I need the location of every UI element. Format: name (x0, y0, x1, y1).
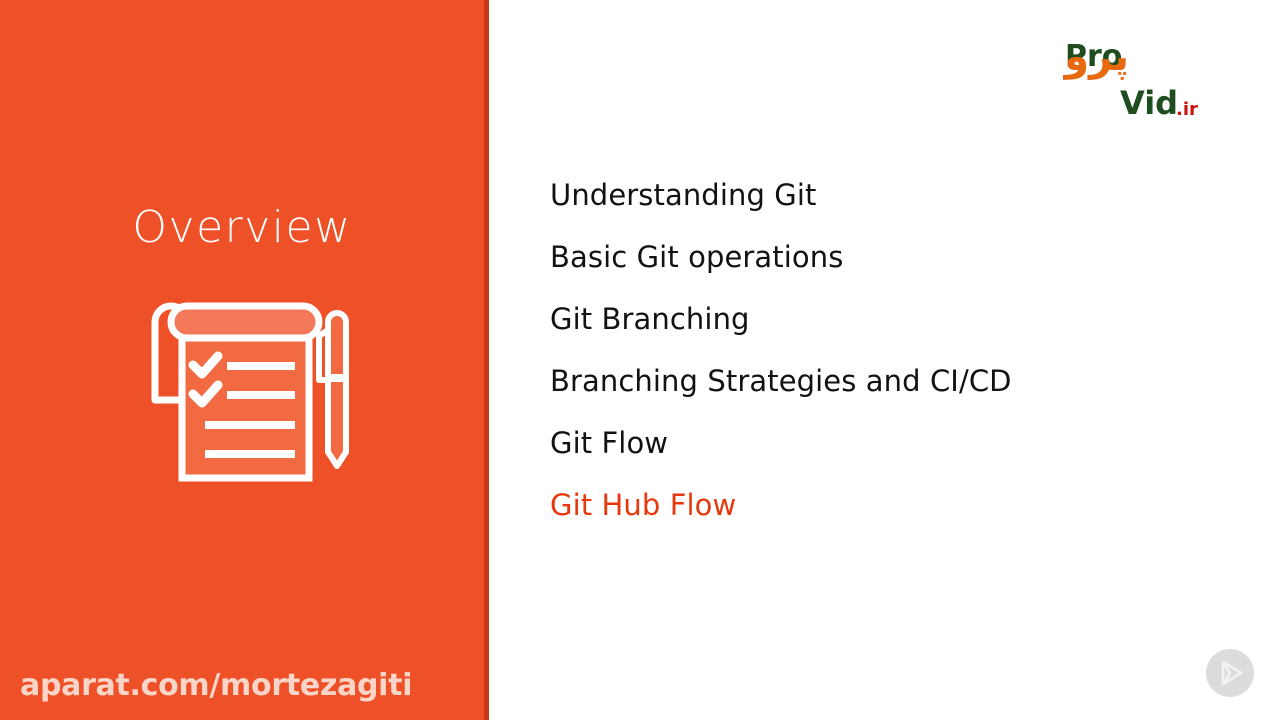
agenda-list: Understanding Git Basic Git operations G… (550, 175, 1240, 547)
clipboard-checklist-icon (145, 300, 355, 490)
agenda-item-4: Branching Strategies and CI/CD (550, 361, 1240, 423)
panel-divider (484, 0, 489, 720)
logo-vid-text: Vid (1120, 84, 1178, 120)
agenda-item-1: Understanding Git (550, 175, 1240, 237)
agenda-item-5: Git Flow (550, 423, 1240, 485)
page-title: Overview (0, 206, 484, 250)
pen-icon (319, 313, 346, 466)
aparat-watermark-text: aparat.com/mortezagiti (20, 668, 412, 703)
provid-logo: Pro پرو Vid .ir ويـد (1063, 28, 1233, 120)
agenda-item-3: Git Branching (550, 299, 1240, 361)
play-button-watermark[interactable] (1205, 648, 1255, 698)
logo-tld-text: .ir (1176, 99, 1198, 120)
left-panel: Overview aparat.com/mortez (0, 0, 488, 720)
slide-root: Overview aparat.com/mortez (0, 0, 1280, 720)
agenda-item-6: Git Hub Flow (550, 485, 1240, 547)
logo-persian-top: پرو (1063, 34, 1129, 80)
agenda-item-2: Basic Git operations (550, 237, 1240, 299)
